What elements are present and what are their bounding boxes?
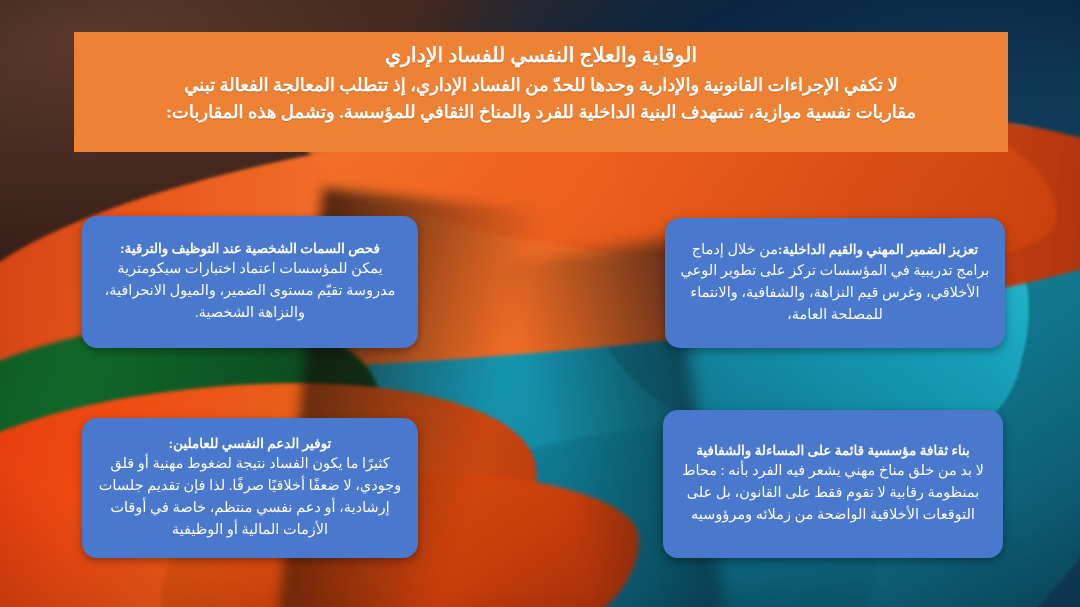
title-banner: الوقاية والعلاج النفسي للفساد الإداري لا… (74, 32, 1008, 152)
card-body: لا بد من خلق مناخ مهني يشعر فيه الفرد بأ… (679, 461, 987, 526)
slide-subtitle-line-1: لا تكفي الإجراءات القانونية والإدارية وح… (92, 72, 990, 98)
card-body: كثيرًا ما يكون الفساد نتيجة لضغوط مهنية … (96, 454, 404, 541)
slide-title: الوقاية والعلاج النفسي للفساد الإداري (92, 43, 990, 70)
card-heading: فحص السمات الشخصية عند التوظيف والترقية: (96, 240, 404, 259)
card-body: يمكن للمؤسسات اعتماد اختبارات سيكومترية … (96, 259, 404, 324)
content-card-conscience[interactable]: تعزيز الضمير المهني والقيم الداخلية:من خ… (665, 218, 1005, 348)
content-card-culture[interactable]: بناء ثقافة مؤسسية قائمة على المساءلة وال… (663, 410, 1003, 558)
card-heading: تعزيز الضمير المهني والقيم الداخلية: (778, 242, 978, 257)
slide-subtitle-line-2: مقاربات نفسية موازية، تستهدف البنية الدا… (92, 99, 990, 125)
card-content: بناء ثقافة مؤسسية قائمة على المساءلة وال… (663, 436, 1003, 533)
card-heading: توفير الدعم النفسي للعاملين: (96, 435, 404, 454)
presentation-slide: الوقاية والعلاج النفسي للفساد الإداري لا… (0, 0, 1080, 607)
content-card-support[interactable]: توفير الدعم النفسي للعاملين: كثيرًا ما ي… (82, 418, 418, 558)
card-heading: بناء ثقافة مؤسسية قائمة على المساءلة وال… (679, 442, 987, 461)
card-content: تعزيز الضمير المهني والقيم الداخلية:من خ… (665, 234, 1005, 333)
card-content: فحص السمات الشخصية عند التوظيف والترقية:… (82, 234, 418, 331)
card-content: توفير الدعم النفسي للعاملين: كثيرًا ما ي… (82, 429, 418, 548)
content-card-screening[interactable]: فحص السمات الشخصية عند التوظيف والترقية:… (82, 216, 418, 348)
card-text: تعزيز الضمير المهني والقيم الداخلية:من خ… (679, 240, 991, 327)
